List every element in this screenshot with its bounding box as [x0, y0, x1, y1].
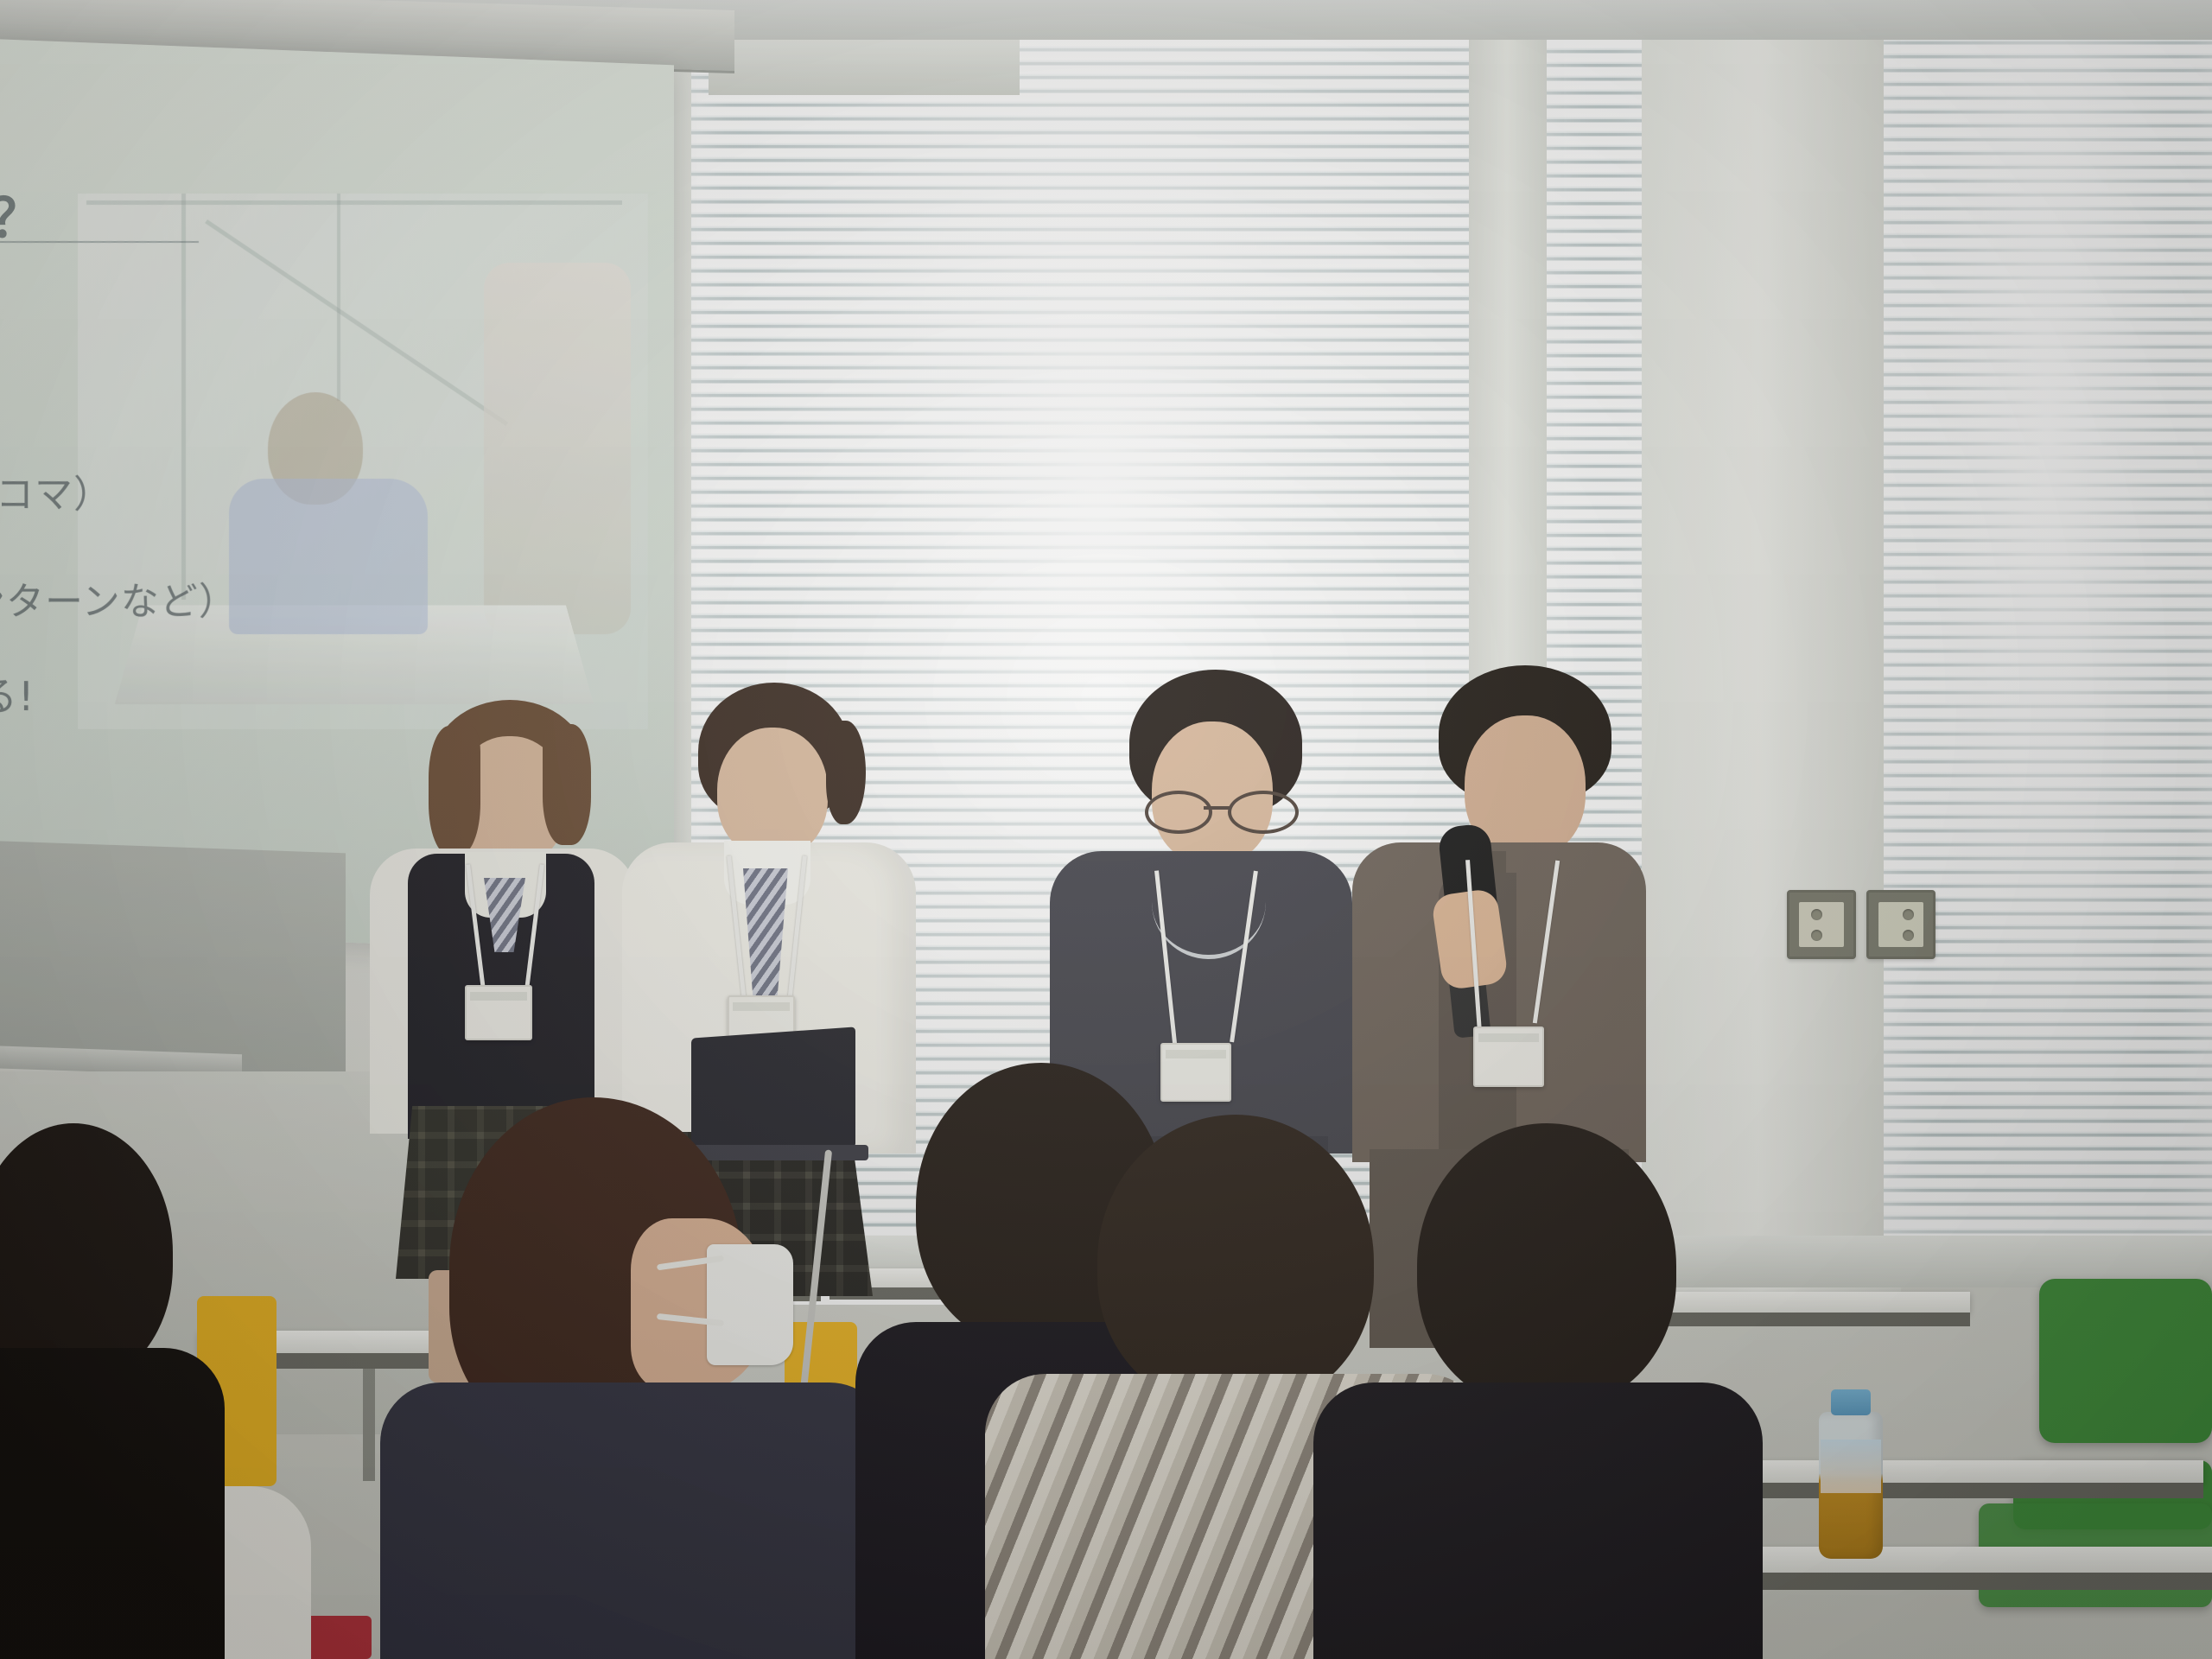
- tea-bottle[interactable]: [1819, 1389, 1883, 1559]
- wall-plate-left-face: [1799, 902, 1844, 947]
- tea-bottle-cap: [1831, 1389, 1871, 1415]
- audience-2-body: [0, 1348, 225, 1659]
- desk-leg-b: [363, 1369, 375, 1481]
- slide-text-line-1: ）: [0, 368, 15, 423]
- presenter-1-badge-strip: [470, 992, 527, 1001]
- venetian-blinds-right: [1884, 0, 2212, 1236]
- wall-plate-right-face: [1878, 902, 1923, 947]
- presenter-1-name-badge[interactable]: [465, 985, 532, 1040]
- glasses-icon: [1145, 791, 1292, 827]
- wall-plate-left[interactable]: [1787, 890, 1856, 959]
- audience-2-hair: [0, 1123, 173, 1382]
- slide-text-line-2: 2コマ）: [0, 463, 112, 518]
- plate-hole-upper: [1811, 909, 1822, 920]
- slide-photo-figure-right: [484, 263, 631, 634]
- audience-3: [380, 1097, 916, 1659]
- presenter-4-badge-strip: [1478, 1033, 1539, 1042]
- tea-bottle-label: [1821, 1440, 1881, 1493]
- plate-hole-lower-2: [1903, 930, 1914, 941]
- presenter-2-hair-bun: [826, 721, 866, 824]
- wall-plate-right[interactable]: [1866, 890, 1935, 959]
- audience-6-hair: [1417, 1123, 1676, 1408]
- face-mask: [707, 1244, 793, 1365]
- slide-text-line-4: る!: [0, 665, 35, 722]
- audience-6: [1313, 1123, 1763, 1659]
- desk-right-front-top: [1694, 1547, 2212, 1573]
- presenter-1-hair-side-right: [543, 724, 591, 845]
- audience-2: [0, 1123, 251, 1659]
- presenter-2-head: [717, 728, 828, 857]
- whiteboard-lower-panel: [0, 841, 346, 1078]
- slide-photo-person-body: [229, 479, 428, 634]
- ceiling-soffit: [709, 35, 1020, 95]
- presenter-2-badge-strip: [733, 1002, 790, 1011]
- audience-3-body: [380, 1382, 890, 1659]
- slide-text-line-3: ンターンなど）: [0, 570, 238, 626]
- slide-rule: [0, 241, 199, 243]
- chair-green-back-right[interactable]: [2039, 1279, 2212, 1443]
- desk-right-front-edge: [1694, 1573, 2212, 1590]
- slide-photograph: [78, 194, 648, 729]
- presenter-3-badge-strip: [1166, 1050, 1226, 1058]
- wall-pier-right: [1642, 0, 1901, 1296]
- presenter-1-hair-side-left: [429, 726, 480, 855]
- audience-6-body: [1313, 1382, 1763, 1659]
- plate-hole-lower: [1811, 930, 1822, 941]
- plate-hole-upper-2: [1903, 909, 1914, 920]
- presenter-4-name-badge[interactable]: [1473, 1027, 1544, 1087]
- classroom-photo-scene: ？ ） 2コマ） ンターンなど） る!: [0, 0, 2212, 1659]
